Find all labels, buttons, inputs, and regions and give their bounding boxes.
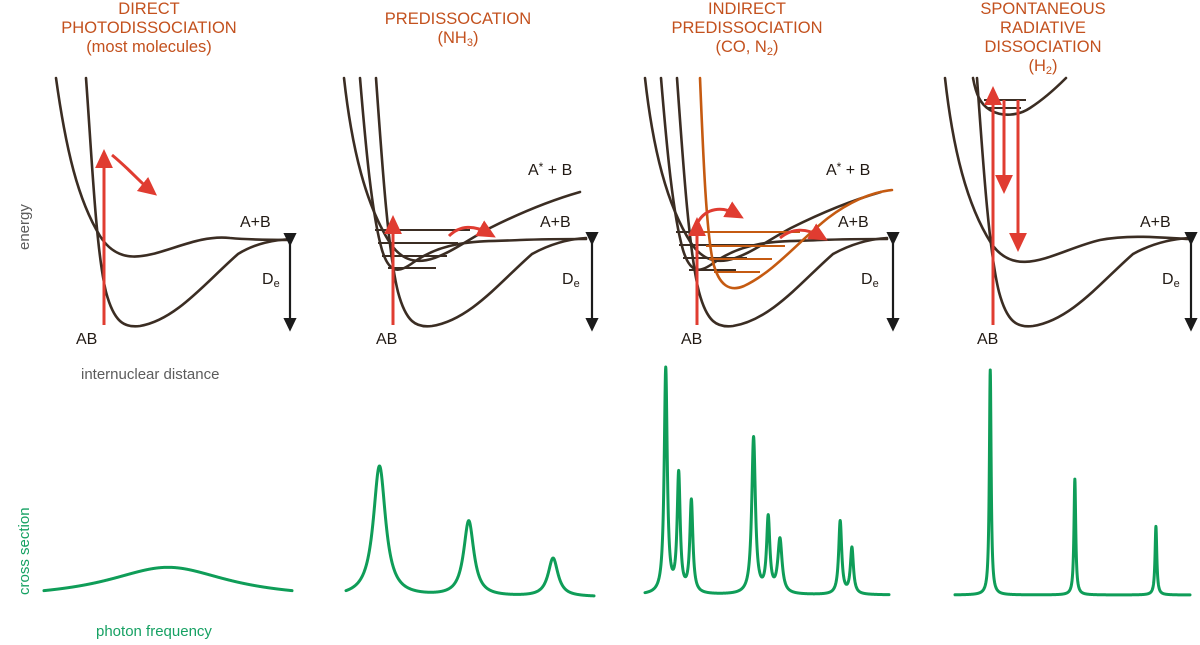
title-line: PREDISSOCIATION	[634, 19, 860, 38]
title-line: INDIRECT	[634, 0, 860, 19]
spectrum-curve-direct	[44, 567, 292, 590]
label-excited-limit-p3: A* + B	[826, 160, 870, 180]
spectrum-curve-predissociation	[346, 466, 594, 596]
title-line: PHOTODISSOCIATION	[36, 19, 262, 38]
title-line: DIRECT	[36, 0, 262, 19]
panel-title-predissociation: PREDISSOCATION (NH3)	[345, 10, 571, 53]
title-line: DISSOCIATION	[930, 38, 1156, 57]
coupling-curved-arrow-p3	[698, 209, 736, 222]
axis-label-internuclear-distance: internuclear distance	[81, 366, 219, 383]
label-ground-ab-p1: AB	[76, 331, 97, 349]
axis-label-cross-section: cross section	[16, 507, 33, 595]
title-line: (most molecules)	[36, 38, 262, 57]
label-de-p4: De	[1162, 271, 1180, 290]
panel-2-potential-diagram	[344, 78, 592, 326]
panel-3-potential-diagram	[645, 78, 893, 326]
label-limit-ab-p2: A+B	[540, 214, 571, 232]
figure-root: DIRECT PHOTODISSOCIATION (most molecules…	[0, 0, 1200, 645]
title-line-formula: (NH3)	[345, 29, 571, 53]
label-ground-ab-p4: AB	[977, 331, 998, 349]
title-line: SPONTANEOUS	[930, 0, 1156, 19]
spectrum-curve-indirect	[645, 367, 889, 595]
panel-title-spontaneous: SPONTANEOUS RADIATIVE DISSOCIATION (H2)	[930, 0, 1156, 81]
dissociation-curved-arrow-p3	[780, 230, 820, 238]
panel-1-potential-diagram	[56, 78, 291, 326]
intermediate-orange-curve-p3	[700, 78, 892, 288]
panel-title-indirect: INDIRECT PREDISSOCIATION (CO, N2)	[634, 0, 860, 62]
label-de-p3: De	[861, 271, 879, 290]
label-ground-ab-p3: AB	[681, 331, 702, 349]
panel-4-potential-diagram	[945, 78, 1191, 326]
axis-label-energy: energy	[16, 204, 33, 250]
ground-state-curve-p3	[677, 78, 887, 326]
label-limit-ab-p4: A+B	[1140, 214, 1171, 232]
dissociation-curved-arrow-p1	[112, 155, 150, 190]
title-line: PREDISSOCATION	[345, 10, 571, 29]
diagram-canvas	[0, 0, 1200, 645]
axis-label-photon-frequency: photon frequency	[96, 623, 212, 640]
spectrum-curve-spontaneous	[955, 370, 1190, 595]
panel-title-direct: DIRECT PHOTODISSOCIATION (most molecules…	[36, 0, 262, 57]
repulsive-curve-p4	[945, 78, 1189, 262]
ground-state-curve-p2	[376, 78, 586, 326]
ground-state-curve-p1	[86, 78, 291, 326]
label-de-p1: De	[262, 271, 280, 290]
label-de-p2: De	[562, 271, 580, 290]
spectra-layer	[44, 367, 1190, 596]
title-line-formula: (H2)	[930, 57, 1156, 81]
upper-bound-curve-p4	[973, 78, 1066, 115]
title-line: RADIATIVE	[930, 19, 1156, 38]
label-limit-ab-p1: A+B	[240, 214, 271, 232]
label-limit-ab-p3: A+B	[838, 214, 869, 232]
crossing-curved-arrow-p2	[449, 227, 488, 236]
title-line-formula: (CO, N2)	[634, 38, 860, 62]
label-ground-ab-p2: AB	[376, 331, 397, 349]
label-excited-limit-p2: A* + B	[528, 160, 572, 180]
ground-state-curve-p4	[977, 78, 1189, 326]
